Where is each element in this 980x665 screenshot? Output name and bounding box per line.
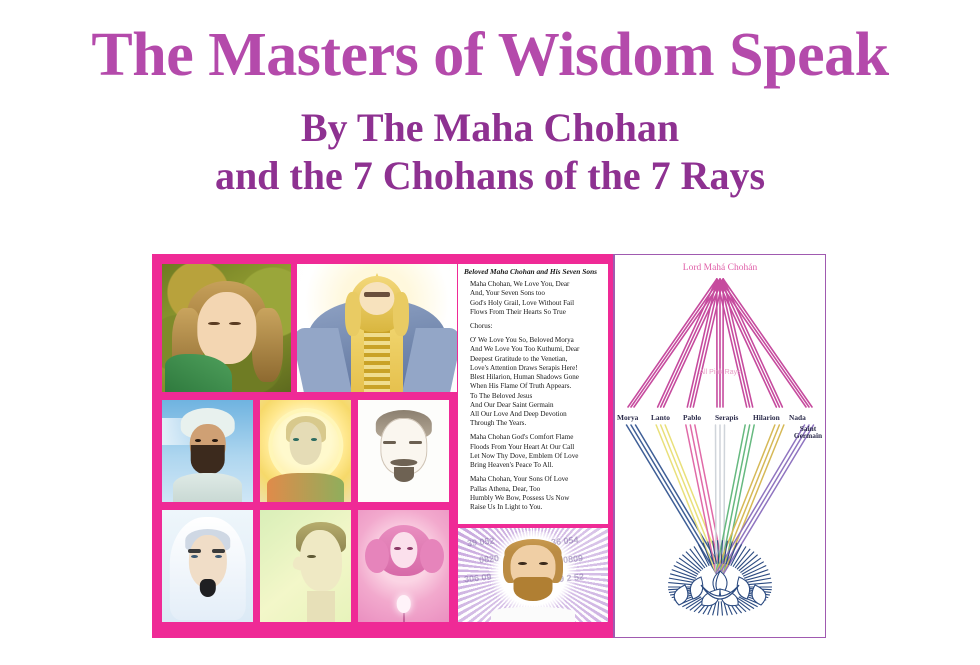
chohan-label-saint-germain: Saint Germain: [791, 425, 825, 440]
song-verse-1: Maha Chohan, We Love You, Dear And, Your…: [470, 280, 603, 317]
song-text-panel: Beloved Maha Chohan and His Seven Sons M…: [458, 264, 608, 524]
chohan-label-hilarion: Hilarion: [753, 413, 780, 422]
chohan-label-nada: Nada: [789, 413, 806, 422]
portrait-grid: Beloved Maha Chohan and His Seven Sons M…: [158, 260, 608, 630]
composite-figure: Beloved Maha Chohan and His Seven Sons M…: [152, 254, 826, 638]
jesus-portrait: 39 052 36 054 0820 0809 306 09 39 2 52: [458, 528, 608, 622]
song-chorus: O' We Love You So, Beloved Morya And We …: [470, 336, 603, 428]
collage-frame: Beloved Maha Chohan and His Seven Sons M…: [152, 254, 613, 638]
portrait-5: [358, 400, 449, 502]
diagram-mid-label: All Pink Rays: [699, 369, 740, 376]
chohan-label-lanto: Lanto: [651, 413, 670, 422]
chohan-label-pablo: Pablo: [683, 413, 701, 422]
page-title: The Masters of Wisdom Speak: [0, 24, 980, 87]
page-subtitle-line1: By The Maha Chohan: [0, 107, 980, 149]
song-verse-2: Maha Chohan God's Comfort Flame Floods F…: [470, 433, 603, 470]
portrait-4: [260, 400, 351, 502]
ray-diagram-panel: Lord Mahá Chohán All Pink Rays Morya Lan…: [613, 254, 826, 638]
ray-diagram: Lord Mahá Chohán All Pink Rays Morya Lan…: [615, 255, 825, 637]
song-chorus-label: Chorus:: [470, 322, 603, 331]
chohan-label-serapis: Serapis: [715, 413, 738, 422]
portrait-8: [358, 510, 449, 622]
page-subtitle-line2: and the 7 Chohans of the 7 Rays: [0, 155, 980, 197]
portrait-3: [162, 400, 253, 502]
portrait-7: [260, 510, 351, 622]
portrait-2: [297, 264, 457, 392]
ray-diagram-svg: [615, 255, 825, 636]
song-heading: Beloved Maha Chohan and His Seven Sons: [464, 268, 603, 276]
portrait-6: [162, 510, 253, 622]
song-verse-3: Maha Chohan, Your Sons Of Love Pallas At…: [470, 475, 603, 512]
page-header: The Masters of Wisdom Speak By The Maha …: [0, 0, 980, 197]
chohan-label-morya: Morya: [617, 413, 638, 422]
portrait-1: [162, 264, 291, 392]
diagram-top-label: Lord Mahá Chohán: [683, 263, 757, 273]
